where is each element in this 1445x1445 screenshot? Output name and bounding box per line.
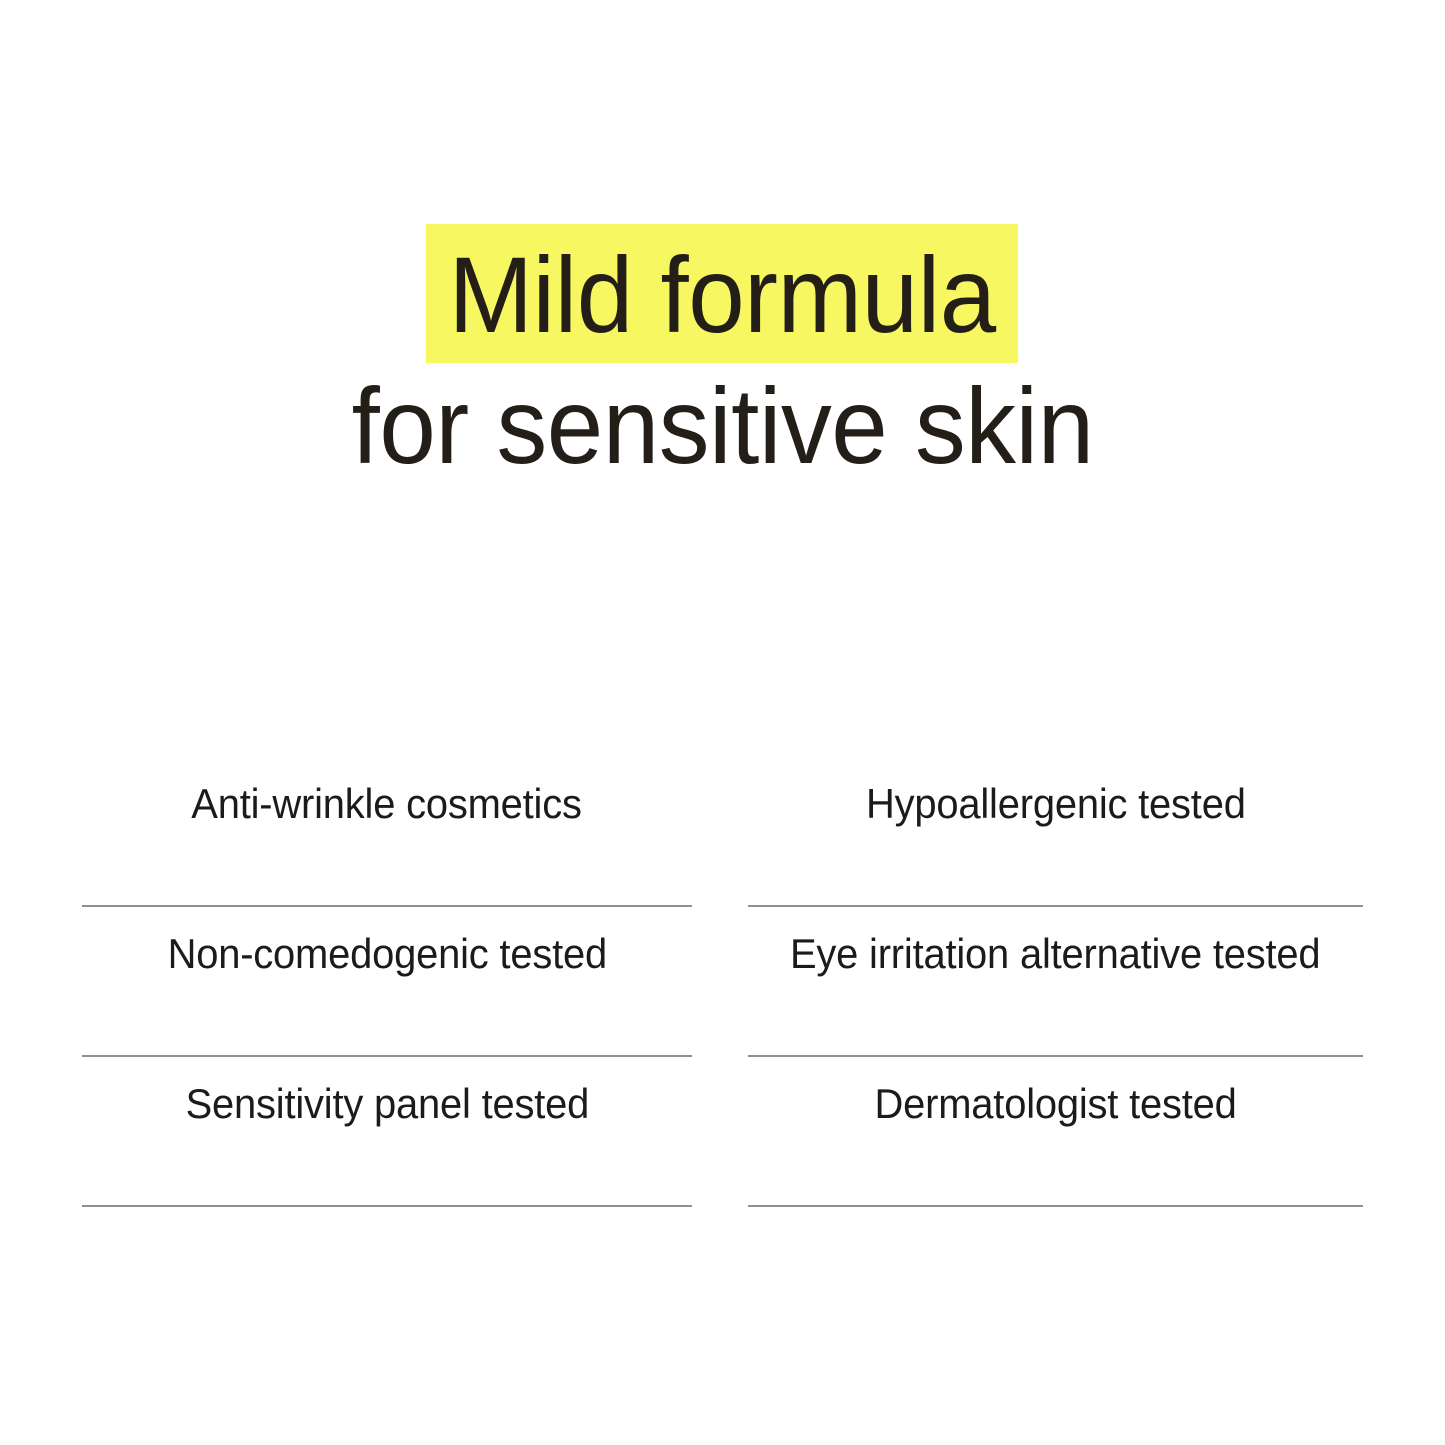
claim-label: Hypoallergenic tested [866, 757, 1246, 829]
headline-subline-text: for sensitive skin [350, 369, 1096, 482]
product-claims-graphic: Mild formula for sensitive skin Anti-wri… [0, 0, 1445, 1445]
claim-label: Anti-wrinkle cosmetics [192, 757, 582, 829]
claim-item-hypoallergenic-tested: Hypoallergenic tested [748, 757, 1363, 907]
claim-item-anti-wrinkle-cosmetics: Anti-wrinkle cosmetics [82, 757, 692, 907]
claim-item-eye-irritation-alternative-tested: Eye irritation alternative tested [748, 907, 1363, 1057]
claim-label: Dermatologist tested [874, 1057, 1236, 1129]
claim-item-dermatologist-tested: Dermatologist tested [748, 1057, 1363, 1207]
claim-label: Non-comedogenic tested [167, 907, 606, 979]
headline-line-2: for sensitive skin [0, 369, 1445, 482]
claim-item-non-comedogenic-tested: Non-comedogenic tested [82, 907, 692, 1057]
claim-label: Sensitivity panel tested [185, 1057, 589, 1129]
headline-highlighted-text: Mild formula [426, 224, 1018, 363]
headline-line-1: Mild formula [0, 224, 1445, 363]
headline-block: Mild formula for sensitive skin [0, 224, 1445, 483]
claim-item-sensitivity-panel-tested: Sensitivity panel tested [82, 1057, 692, 1207]
claims-grid: Anti-wrinkle cosmetics Hypoallergenic te… [82, 757, 1363, 1207]
claim-label: Eye irritation alternative tested [790, 907, 1320, 979]
